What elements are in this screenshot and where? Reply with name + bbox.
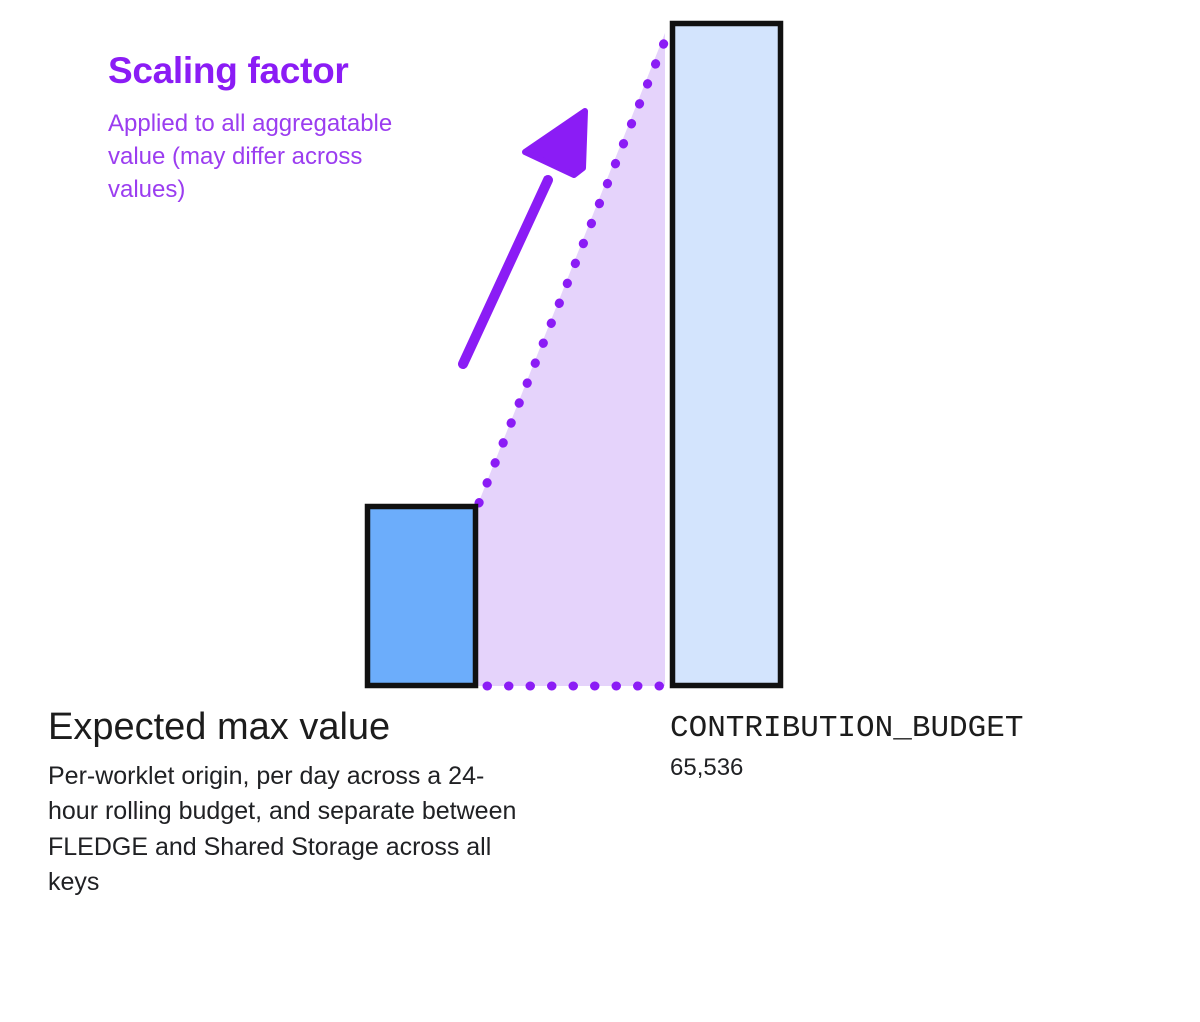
- contribution-budget-title: CONTRIBUTION_BUDGET: [670, 712, 1190, 746]
- expected-max-value-title: Expected max value: [48, 706, 518, 749]
- scaling-factor-annotation: Scaling factor Applied to all aggregatab…: [108, 52, 438, 206]
- contribution-budget-label-block: CONTRIBUTION_BUDGET 65,536: [670, 712, 1190, 783]
- annotation-body: Applied to all aggregatable value (may d…: [108, 107, 438, 206]
- bar-expected-max-value: [368, 507, 476, 686]
- annotation-title: Scaling factor: [108, 52, 438, 91]
- bar-contribution-budget: [673, 24, 781, 686]
- contribution-budget-value: 65,536: [670, 754, 1190, 783]
- expected-max-value-label-block: Expected max value Per-worklet origin, p…: [48, 706, 518, 901]
- expected-max-value-description: Per-worklet origin, per day across a 24-…: [48, 759, 518, 901]
